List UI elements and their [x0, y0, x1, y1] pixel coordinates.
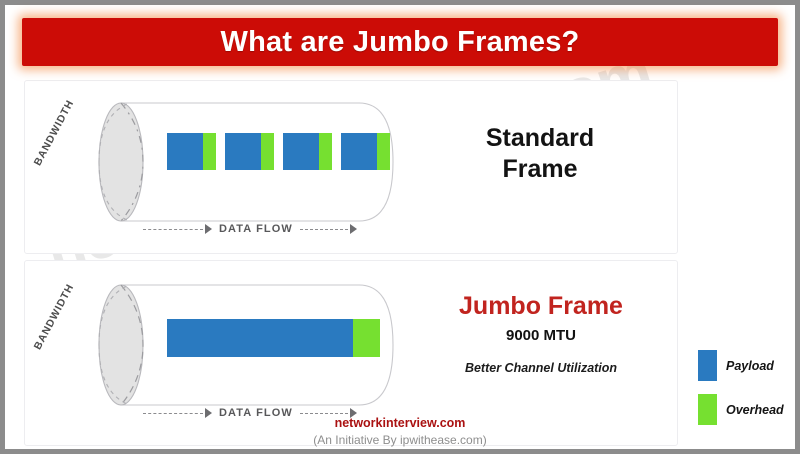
standard-frame-title-line1: Standard	[425, 123, 655, 154]
overhead-block	[377, 133, 390, 170]
legend-item: Payload	[698, 350, 784, 381]
flow-arrow-left-icon	[205, 224, 212, 234]
flow-dash-left	[143, 229, 203, 230]
jumbo-frame-note: Better Channel Utilization	[421, 361, 661, 375]
frame-segment	[225, 133, 274, 170]
payload-block	[225, 133, 261, 170]
payload-block	[167, 319, 353, 357]
jumbo-frame-mtu: 9000 MTU	[421, 327, 661, 344]
payload-block	[283, 133, 319, 170]
bandwidth-label-jumbo: BANDWIDTH	[32, 282, 77, 352]
panel-standard-frame: BANDWIDTH DATA FLOW Standard Frame	[24, 80, 678, 254]
overhead-block	[319, 133, 332, 170]
frame-segment	[167, 133, 216, 170]
data-flow-label-standard: DATA FLOW	[219, 223, 293, 235]
footer-subtitle: (An Initiative By ipwithease.com)	[8, 433, 792, 447]
payload-block	[167, 133, 203, 170]
jumbo-frame-heading: Jumbo Frame 9000 MTU Better Channel Util…	[421, 293, 661, 375]
title-banner: What are Jumbo Frames?	[22, 18, 778, 66]
legend-swatch	[698, 350, 717, 381]
footer-brand: networkinterview.com	[8, 416, 792, 430]
flow-dash-right	[300, 413, 348, 414]
legend-label: Payload	[726, 359, 774, 373]
jumbo-frame-title: Jumbo Frame	[421, 293, 661, 321]
page-title: What are Jumbo Frames?	[221, 26, 580, 59]
legend-label: Overhead	[726, 403, 784, 417]
bandwidth-label-standard: BANDWIDTH	[32, 98, 77, 168]
frame-segment	[341, 133, 390, 170]
standard-frame-heading: Standard Frame	[425, 123, 655, 184]
standard-frame-title-line2: Frame	[425, 154, 655, 185]
flow-dash-left	[143, 413, 203, 414]
frame-segments-standard	[167, 133, 390, 170]
frame-segments-jumbo	[167, 319, 380, 357]
overhead-block	[261, 133, 274, 170]
flow-dash-right	[300, 229, 348, 230]
overhead-block	[353, 319, 380, 357]
overhead-block	[203, 133, 216, 170]
data-flow-standard: DATA FLOW	[143, 223, 364, 235]
flow-arrow-right-icon	[350, 224, 357, 234]
infographic-root: networkinterview.com What are Jumbo Fram…	[0, 0, 800, 454]
infographic-inner-frame: networkinterview.com What are Jumbo Fram…	[5, 5, 795, 449]
frame-segment	[167, 319, 380, 357]
payload-block	[341, 133, 377, 170]
frame-segment	[283, 133, 332, 170]
